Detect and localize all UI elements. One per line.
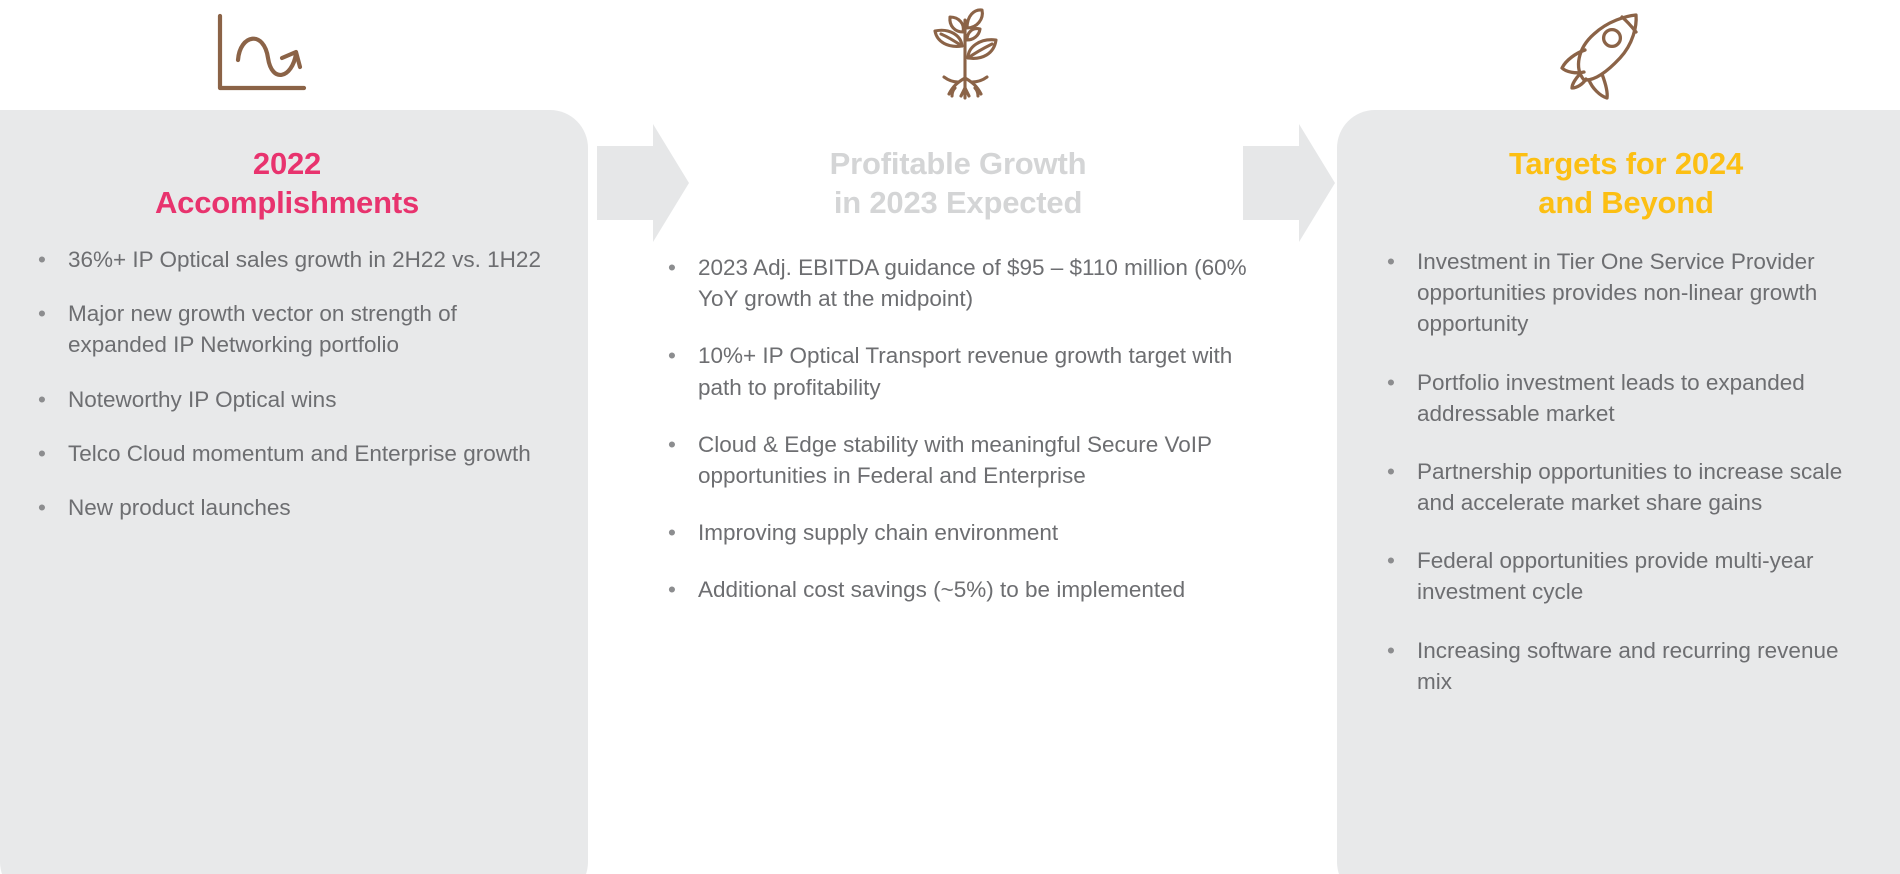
list-item: • 2023 Adj. EBITDA guidance of $95 – $11…	[660, 252, 1256, 314]
list-item-text: Investment in Tier One Service Provider …	[1417, 249, 1817, 336]
list-item: • Major new growth vector on strength of…	[30, 298, 548, 360]
growth-chart-icon	[200, 4, 320, 104]
bullet-dot-icon: •	[668, 517, 676, 548]
list-item-text: Partnership opportunities to increase sc…	[1417, 459, 1842, 515]
column-2-title: Profitable Growth in 2023 Expected	[660, 144, 1256, 222]
list-item: • Investment in Tier One Service Provide…	[1379, 246, 1873, 339]
bullet-dot-icon: •	[1387, 635, 1395, 666]
list-item: • Portfolio investment leads to expanded…	[1379, 367, 1873, 429]
bullet-dot-icon: •	[668, 340, 676, 371]
slide-canvas: 2022 Accomplishments • 36%+ IP Optical s…	[0, 0, 1900, 874]
list-item: • Cloud & Edge stability with meaningful…	[660, 429, 1256, 491]
bullet-dot-icon: •	[38, 438, 46, 469]
rocket-icon	[1540, 4, 1660, 104]
list-item: • Telco Cloud momentum and Enterprise gr…	[30, 438, 548, 469]
list-item-text: Improving supply chain environment	[698, 520, 1058, 545]
list-item-text: Portfolio investment leads to expanded a…	[1417, 370, 1805, 426]
list-item: • Additional cost savings (~5%) to be im…	[660, 574, 1256, 605]
list-item-text: Federal opportunities provide multi-year…	[1417, 548, 1813, 604]
bullet-dot-icon: •	[668, 574, 676, 605]
column-3-bullet-list: • Investment in Tier One Service Provide…	[1379, 246, 1873, 697]
column-accomplishments-2022: 2022 Accomplishments • 36%+ IP Optical s…	[0, 110, 588, 874]
column-targets-2024-beyond: Targets for 2024 and Beyond • Investment…	[1337, 110, 1900, 874]
bullet-dot-icon: •	[38, 298, 46, 329]
column-2-bullet-list: • 2023 Adj. EBITDA guidance of $95 – $11…	[660, 252, 1256, 605]
list-item-text: Additional cost savings (~5%) to be impl…	[698, 577, 1185, 602]
list-item-text: Noteworthy IP Optical wins	[68, 387, 336, 412]
list-item: • Increasing software and recurring reve…	[1379, 635, 1873, 697]
list-item-text: Major new growth vector on strength of e…	[68, 301, 457, 357]
seedling-roots-icon	[905, 4, 1025, 104]
column-1-bullet-list: • 36%+ IP Optical sales growth in 2H22 v…	[26, 244, 548, 523]
column-1-title: 2022 Accomplishments	[26, 144, 548, 222]
list-item: • Partnership opportunities to increase …	[1379, 456, 1873, 518]
list-item-text: 10%+ IP Optical Transport revenue growth…	[698, 343, 1232, 399]
list-item: • 36%+ IP Optical sales growth in 2H22 v…	[30, 244, 548, 275]
bullet-dot-icon: •	[668, 429, 676, 460]
bullet-dot-icon: •	[1387, 545, 1395, 576]
bullet-dot-icon: •	[668, 252, 676, 283]
bullet-dot-icon: •	[1387, 246, 1395, 277]
list-item: • Noteworthy IP Optical wins	[30, 384, 548, 415]
list-item-text: Telco Cloud momentum and Enterprise grow…	[68, 441, 531, 466]
list-item-text: 2023 Adj. EBITDA guidance of $95 – $110 …	[698, 255, 1247, 311]
bullet-dot-icon: •	[1387, 367, 1395, 398]
list-item-text: Cloud & Edge stability with meaningful S…	[698, 432, 1212, 488]
column-profitable-growth-2023: Profitable Growth in 2023 Expected • 202…	[660, 110, 1280, 874]
list-item: • Federal opportunities provide multi-ye…	[1379, 545, 1873, 607]
list-item: • Improving supply chain environment	[660, 517, 1256, 548]
bullet-dot-icon: •	[38, 384, 46, 415]
list-item: • 10%+ IP Optical Transport revenue grow…	[660, 340, 1256, 402]
column-3-title: Targets for 2024 and Beyond	[1379, 144, 1873, 222]
list-item: • New product launches	[30, 492, 548, 523]
list-item-text: 36%+ IP Optical sales growth in 2H22 vs.…	[68, 247, 541, 272]
list-item-text: New product launches	[68, 495, 291, 520]
bullet-dot-icon: •	[38, 492, 46, 523]
list-item-text: Increasing software and recurring revenu…	[1417, 638, 1838, 694]
bullet-dot-icon: •	[38, 244, 46, 275]
bullet-dot-icon: •	[1387, 456, 1395, 487]
